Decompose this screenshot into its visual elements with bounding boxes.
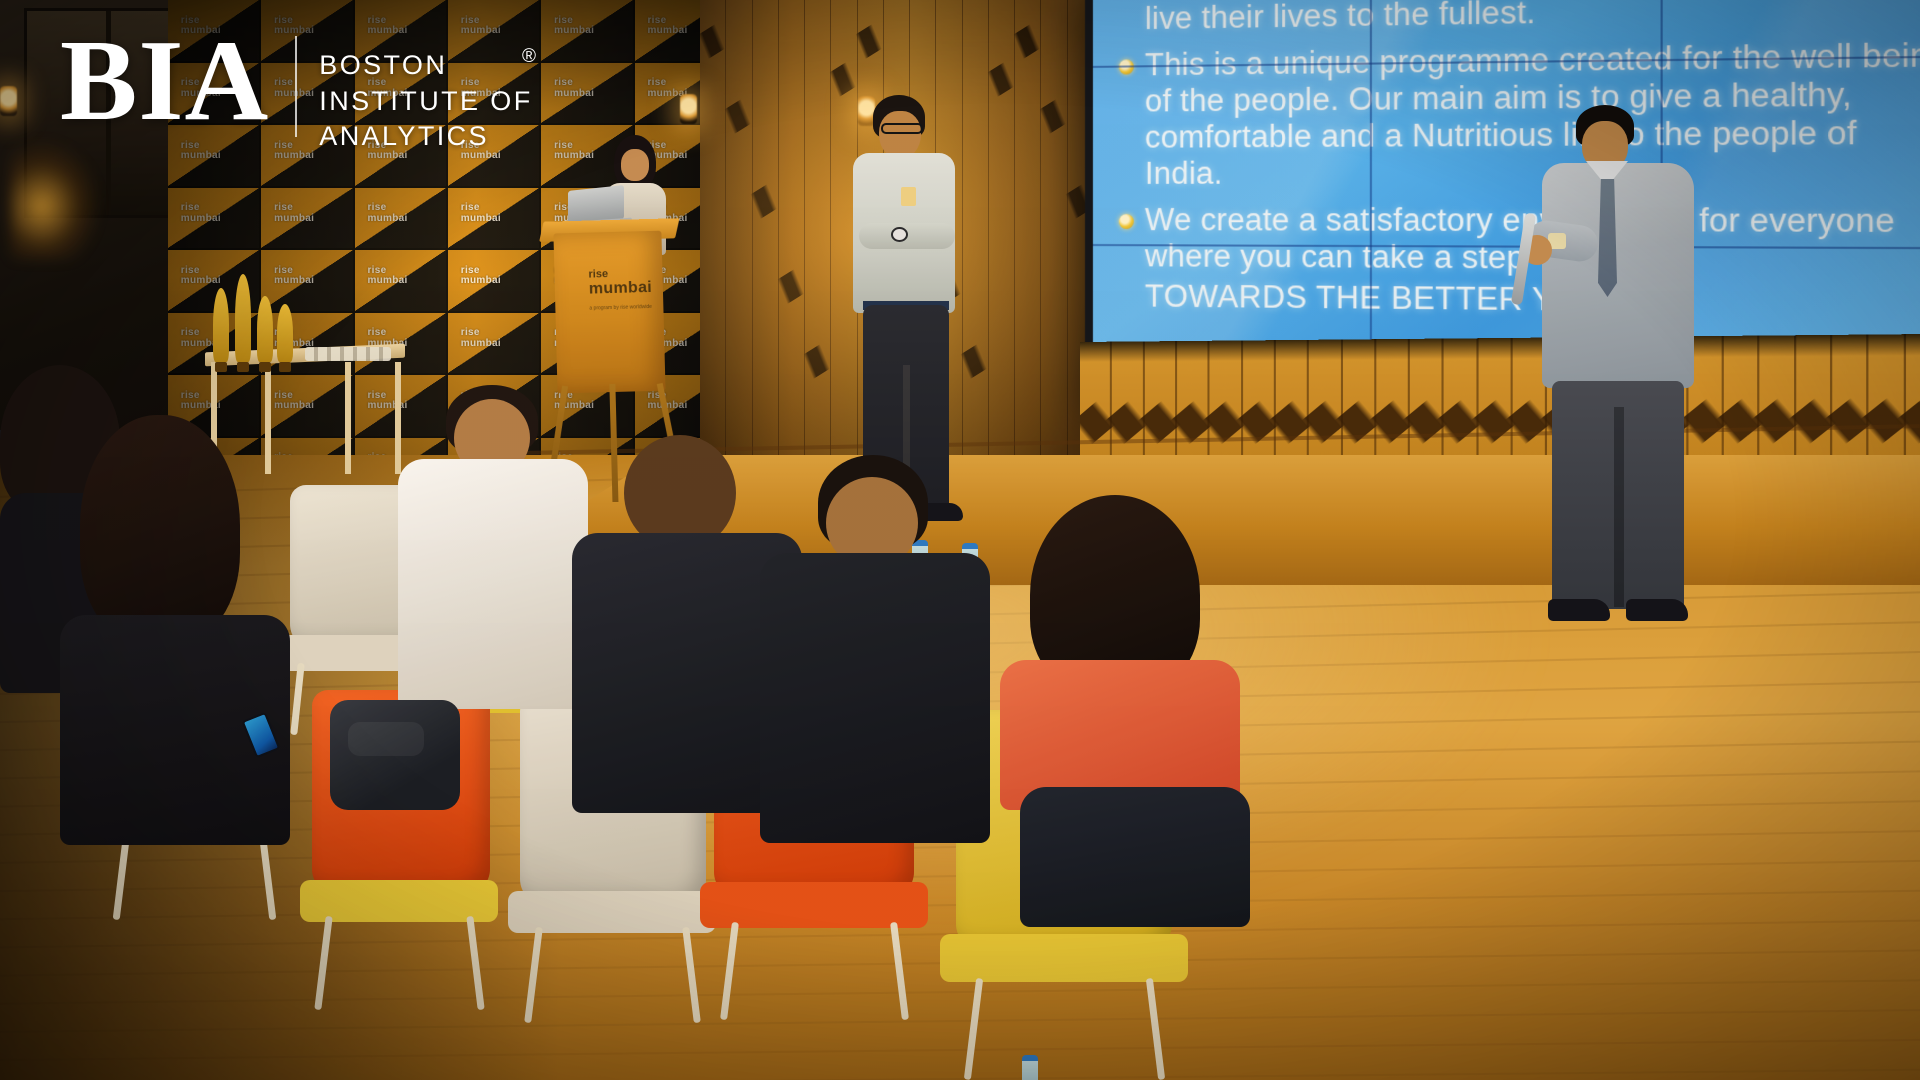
backdrop-brand-label: rise mumbai xyxy=(647,16,687,37)
audience-member xyxy=(60,415,290,835)
backdrop-brand-tile: rise mumbai xyxy=(168,188,261,251)
backdrop-brand-label: rise mumbai xyxy=(367,203,407,224)
trophy-icon xyxy=(277,304,293,362)
glasses-icon xyxy=(881,123,923,134)
backdrop-brand-tile: rise mumbai xyxy=(355,250,448,313)
podium-face: rise mumbai a program by rise worldwide xyxy=(553,231,665,394)
podium-brand-line2: mumbai xyxy=(589,279,669,299)
bullet-dot-icon xyxy=(1119,59,1134,74)
audience-member xyxy=(1000,495,1260,915)
backdrop-brand-tile: rise mumbai xyxy=(261,250,354,313)
shirt xyxy=(1542,163,1694,388)
wall-lamp-icon xyxy=(0,86,17,116)
backdrop-brand-label: rise mumbai xyxy=(461,328,501,349)
bia-wordmark-line3: ANALYTICS xyxy=(319,119,532,155)
audience-member xyxy=(398,385,588,705)
necktie xyxy=(1598,179,1617,297)
trophy-icon xyxy=(257,296,273,362)
backdrop-brand-tile: rise mumbai xyxy=(541,63,634,126)
id-badge xyxy=(901,187,916,206)
backdrop-brand-label: rise mumbai xyxy=(274,266,314,287)
slide-bullet-text: FREGAN is a destination where people can… xyxy=(1145,0,1920,37)
backdrop-brand-label: rise mumbai xyxy=(554,16,594,37)
event-photo: rise mumbairise mumbairise mumbairise mu… xyxy=(0,0,1920,1080)
logo-divider xyxy=(295,36,297,137)
presenter xyxy=(1530,105,1705,680)
slide-bullet: FREGAN is a destination where people can… xyxy=(1119,0,1920,37)
shoe xyxy=(1626,599,1688,621)
backdrop-brand-label: rise mumbai xyxy=(181,203,221,224)
trophy-icon xyxy=(235,274,251,362)
face xyxy=(621,149,649,181)
window-glow xyxy=(10,140,100,260)
registered-trademark-symbol: ® xyxy=(522,46,536,68)
backdrop-brand-tile: rise mumbai xyxy=(541,0,634,63)
backdrop-brand-tile: rise mumbai xyxy=(261,188,354,251)
backdrop-brand-label: rise mumbai xyxy=(367,266,407,287)
bia-logo-wordmark: BOSTON INSTITUTE OF ANALYTICS xyxy=(319,26,532,155)
bia-wordmark-line2: INSTITUTE OF xyxy=(319,84,532,120)
backdrop-brand-label: rise mumbai xyxy=(554,78,594,99)
podium-tagline: a program by rise worldwide xyxy=(589,305,669,313)
audience-area xyxy=(0,455,1250,1080)
backdrop-brand-tile: rise mumbai xyxy=(448,313,541,376)
face xyxy=(879,111,921,159)
wristwatch-icon xyxy=(891,227,908,242)
bia-wordmark-line1: BOSTON xyxy=(319,48,532,84)
backdrop-brand-label: rise mumbai xyxy=(554,141,594,162)
trophy-icon xyxy=(213,288,229,362)
backdrop-brand-label: rise mumbai xyxy=(274,203,314,224)
medals-row xyxy=(305,347,391,361)
backdrop-brand-tile: rise mumbai xyxy=(448,250,541,313)
wall-lamp-icon xyxy=(680,94,697,124)
audience-member xyxy=(760,455,990,835)
backdrop-brand-tile: rise mumbai xyxy=(355,188,448,251)
trousers xyxy=(1552,381,1684,609)
bullet-dot-icon xyxy=(1119,214,1134,229)
shoe xyxy=(1548,599,1610,621)
backdrop-brand-label: rise mumbai xyxy=(461,203,501,224)
backpack-icon xyxy=(330,700,460,810)
backdrop-brand-label: rise mumbai xyxy=(461,266,501,287)
slide-bullet: This is a unique programme created for t… xyxy=(1119,36,1920,192)
backdrop-brand-tile: rise mumbai xyxy=(448,188,541,251)
backdrop-brand-label: rise mumbai xyxy=(181,266,221,287)
bia-logo: BIA BOSTON INSTITUTE OF ANALYTICS xyxy=(60,26,533,155)
bia-logo-mark: BIA xyxy=(60,26,269,136)
podium-brand: rise mumbai a program by rise worldwide xyxy=(588,267,669,313)
